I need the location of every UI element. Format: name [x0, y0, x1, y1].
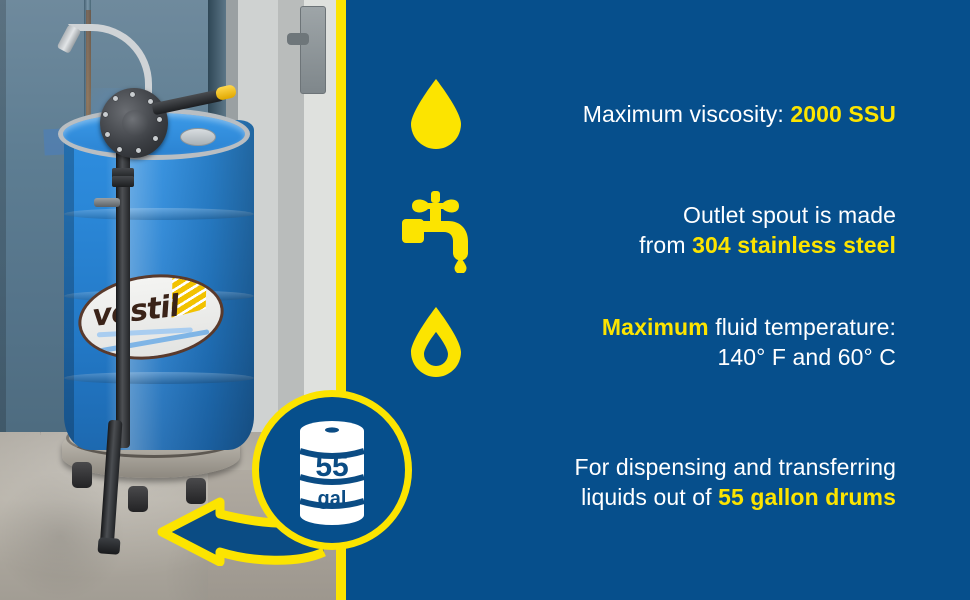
feature-row-temperature: Maximum fluid temperature: 140° F and 60…	[346, 300, 906, 384]
capacity-unit: gal	[318, 488, 347, 510]
feature-text-outlet-spout: Outlet spout is made from 304 stainless …	[526, 200, 906, 261]
pump-valve	[94, 198, 120, 207]
oil-drop-icon	[346, 77, 526, 151]
feature-text-temperature: Maximum fluid temperature: 140° F and 60…	[526, 312, 906, 373]
capacity-badge: 55 gal	[252, 390, 412, 550]
feature-row-outlet-spout: Outlet spout is made from 304 stainless …	[346, 182, 906, 278]
drum-rib	[64, 208, 254, 220]
drum-bung-cap	[180, 128, 216, 146]
product-feature-infographic: vestil	[0, 0, 970, 600]
feature-list: Maximum viscosity: 2000 SSU	[346, 0, 970, 600]
pump-foot	[97, 537, 120, 554]
drum-capacity-icon: 55 gal	[297, 419, 367, 527]
flame-drop-icon	[346, 305, 526, 379]
pump-hub	[122, 110, 148, 136]
feature-text-viscosity: Maximum viscosity: 2000 SSU	[526, 99, 906, 129]
door-latch	[300, 6, 326, 94]
features-panel: Maximum viscosity: 2000 SSU	[346, 0, 970, 600]
feature-row-viscosity: Maximum viscosity: 2000 SSU	[346, 72, 906, 156]
logo-wordmark: vestil	[90, 289, 180, 334]
feature-row-dispensing: For dispensing and transferring liquids …	[346, 440, 906, 524]
drum-rib	[64, 372, 254, 384]
caster-wheel	[128, 486, 148, 512]
capacity-value: 55	[315, 450, 348, 483]
feature-text-dispensing: For dispensing and transferring liquids …	[526, 452, 906, 513]
pump-collar	[112, 176, 134, 187]
pump-suction-tube	[116, 148, 130, 448]
faucet-icon	[346, 187, 526, 273]
caster-wheel	[72, 462, 92, 488]
